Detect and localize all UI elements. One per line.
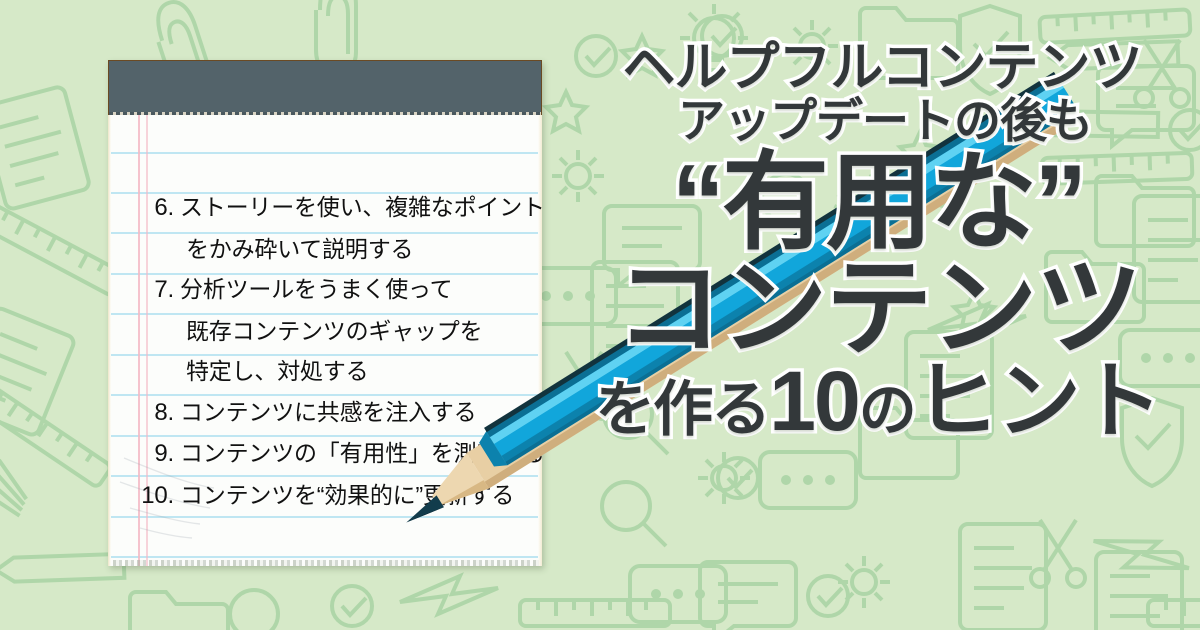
list-item-number: 10. <box>126 476 180 517</box>
list-item-text: 既存コンテンツのギャップを <box>180 311 532 352</box>
poster-canvas: 6. ストーリーを使い、複雑なポイント をかみ砕いて説明する 7. 分析ツールを… <box>0 0 1200 630</box>
title-line-3: “有用な” <box>556 150 1200 254</box>
list-item: 10. コンテンツを“効果的に”更新する <box>126 475 532 517</box>
title-line-5-no: の <box>859 378 915 443</box>
list-item-text: 分析ツールをうまく使って <box>180 269 532 310</box>
title-line-2: アップデートの後も <box>570 96 1200 146</box>
notepad-torn-bottom-edge <box>110 560 539 566</box>
notepad-left-edge <box>108 115 111 566</box>
poster-title-block: ヘルプフルコンテンツ アップデートの後も “有用な” コンテンツ を作る10のヒ… <box>556 40 1200 610</box>
list-item-text: ストーリーを使い、複雑なポイント <box>180 187 542 228</box>
notepad-header-bar <box>108 60 542 115</box>
notepad-tip-list: 6. ストーリーを使い、複雑なポイント をかみ砕いて説明する 7. 分析ツールを… <box>126 187 532 516</box>
list-item-text: 特定し、対処する <box>180 351 532 392</box>
title-line-5-suffix: ヒント <box>915 354 1161 448</box>
list-item: 8. コンテンツに共感を注入する <box>126 392 532 434</box>
notepad: 6. ストーリーを使い、複雑なポイント をかみ砕いて説明する 7. 分析ツールを… <box>108 60 542 566</box>
list-item-number: 6. <box>126 188 180 229</box>
title-line-5-number: 10 <box>769 354 858 448</box>
list-item-number: 8. <box>126 393 180 434</box>
title-line-1: ヘルプフルコンテンツ <box>564 40 1200 96</box>
list-item-text: をかみ砕いて説明する <box>180 229 532 270</box>
list-item: 7. 分析ツールをうまく使って <box>126 269 532 311</box>
list-item-number: 9. <box>126 434 180 475</box>
list-item: 特定し、対処する <box>126 351 532 392</box>
list-item: をかみ砕いて説明する <box>126 229 532 270</box>
title-line-5: を作る10のヒント <box>556 366 1200 446</box>
list-item-number: 7. <box>126 270 180 311</box>
list-item: 6. ストーリーを使い、複雑なポイント <box>126 187 532 229</box>
list-item: 9. コンテンツの「有用性」を測定する <box>126 433 532 475</box>
list-item-text: コンテンツに共感を注入する <box>180 392 532 433</box>
notepad-paper: 6. ストーリーを使い、複雑なポイント をかみ砕いて説明する 7. 分析ツールを… <box>108 115 542 566</box>
notepad-perforation <box>109 112 541 115</box>
title-line-5-prefix: を作る <box>595 376 769 443</box>
list-item: 既存コンテンツのギャップを <box>126 311 532 352</box>
list-item-text: コンテンツを“効果的に”更新する <box>180 475 532 516</box>
title-line-4: コンテンツ <box>556 254 1200 362</box>
list-item-text: コンテンツの「有用性」を測定する <box>180 433 542 474</box>
notepad-right-edge <box>538 115 542 566</box>
